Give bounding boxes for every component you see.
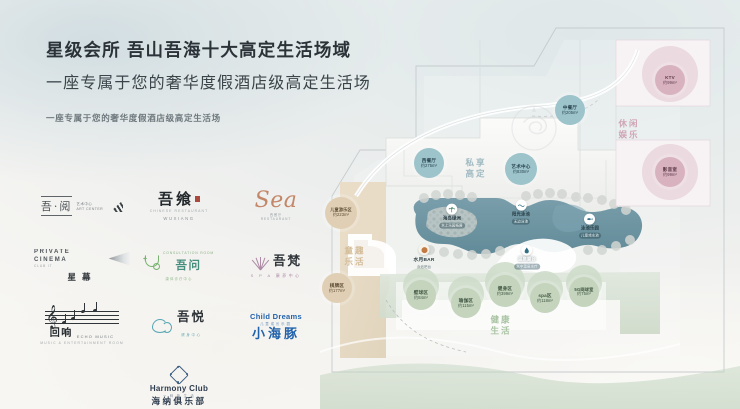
logo-wuwen[interactable]: + CONSULTATION ROOM 吾问 康体诊疗中心 [131, 238, 227, 294]
logo-wuwen-en2: 康体诊疗中心 [166, 276, 193, 281]
logo-private-cinema[interactable]: PRIVATE CINEMA CLUB IT 星幕 [34, 238, 130, 294]
zone-private-custom: 私享 高定 [465, 158, 486, 181]
marker-ocean-pool[interactable]: 泳池乐园 儿童戏水池 [579, 214, 601, 239]
logo-wuxiang-en: WUXIANG [163, 216, 194, 221]
pin-spa-area: 约118m² [537, 299, 553, 304]
pin-western-restaurant[interactable]: 西餐厅 约275m² [414, 148, 444, 178]
stethoscope-icon: + [144, 254, 160, 270]
zone-healthy-life-line1: 健康 [490, 315, 511, 326]
marker-ocean-pool-sub: 儿童戏水池 [579, 232, 601, 238]
logo-private-cinema-en2: CLUB IT [34, 264, 105, 268]
marker-sunshine-pool-sub: 无边泳池 [512, 218, 530, 224]
brush-stroke-icon [107, 200, 123, 212]
pin-yoga-area: 约115m² [458, 304, 474, 309]
pin-squash[interactable]: 壁球区 约84m² [406, 280, 436, 310]
marker-hot-spring-deck-name: 温泉露台 [518, 257, 536, 263]
pin-spa[interactable]: spa区 约118m² [530, 283, 560, 313]
logo-wuxiang-cn: 吾飨 [158, 192, 194, 207]
logo-child-dreams[interactable]: Child Dreams 儿童成长乐园 小海豚 [228, 298, 324, 354]
logo-harmony-club-cn: 海纳俱乐部 [151, 398, 206, 407]
logo-wuxiang[interactable]: 吾飨 CHINESE RESTAURANT WUXIANG [131, 178, 227, 234]
zone-healthy-life: 健康 生活 [490, 315, 511, 338]
logo-wuwen-cn: 吾问 [176, 258, 202, 272]
zone-leisure-fun-line1: 休闲 [618, 119, 639, 130]
marker-ocean-pool-name: 泳池乐园 [581, 226, 599, 232]
diamond-icon [170, 366, 188, 384]
pin-squash-area: 约84m² [414, 296, 428, 301]
brand-logo-grid: 吾·阅 艺术中心 ART CENTER 吾飨 CHINESE RESTAURAN… [34, 178, 324, 409]
music-staff-icon: 𝄞 [45, 307, 119, 329]
marker-hot-spring-deck[interactable]: 温泉露台 水中温泉水疗 [514, 245, 540, 270]
palm-icon [446, 204, 457, 215]
logo-wufan-en: S P A 康养中心 [251, 273, 302, 279]
pin-fitness-area: 约399m² [497, 292, 513, 297]
pin-art-center-area: 约830m² [513, 170, 529, 175]
page-title: 星级会所 吾山吾海十大高定生活场域 [46, 40, 371, 62]
logo-sea-en: RESTAURANT [261, 217, 291, 221]
wave-swirl-icon [152, 317, 174, 335]
page-caption: 一座专属于您的奢华度假酒店级高定生活场 [46, 112, 371, 124]
pin-chinese-restaurant[interactable]: 中餐厅 约205m² [555, 95, 585, 125]
logo-wuwen-en: CONSULTATION ROOM [163, 251, 214, 256]
zone-kids-joy-line1: 童趣 [344, 246, 365, 257]
pin-kids-play-area: 约223m² [333, 213, 349, 218]
marker-sea-wave-pool-sub: 水上乐园拓展 [439, 222, 465, 228]
logo-wufan-cn: 吾梵 [273, 255, 302, 268]
pin-yoga[interactable]: 瑜伽区 约115m² [451, 288, 481, 318]
zone-kids-joy: 童趣 乐活 [344, 246, 365, 269]
cocktail-icon [419, 244, 430, 255]
compass-watermark [506, 100, 562, 156]
marker-sea-wave-pool[interactable]: 海岛绿洲 水上乐园拓展 [439, 204, 465, 229]
logo-art-center[interactable]: 吾·阅 艺术中心 ART CENTER [34, 178, 130, 234]
droplet-icon [521, 245, 532, 256]
logo-wuyue[interactable]: 吾悦 健身中心 [131, 298, 227, 354]
logo-private-cinema-cn: 星幕 [67, 271, 96, 283]
lotus-icon [250, 254, 270, 270]
marker-sea-wave-pool-name: 海岛绿洲 [443, 216, 461, 222]
pin-tennis-5g[interactable]: 5G网球室 约75m² [569, 277, 599, 307]
marker-sunshine-pool-name: 阳光泳池 [512, 212, 530, 218]
marker-water-moon-bar[interactable]: 水月BAR 泳池吧台 [414, 244, 435, 270]
zone-leisure-fun: 休闲 娱乐 [618, 119, 639, 142]
logo-sea-word: Sea [255, 191, 298, 212]
logo-huixiang[interactable]: 𝄞 回响 ECHO MUSIC MUSIC & ENTERTAINMENT RO… [34, 298, 130, 354]
pin-chess-room-area: 约177m² [329, 289, 345, 294]
logo-huixiang-cn: 回响 [50, 329, 73, 339]
logo-child-dreams-en: Child Dreams [250, 312, 302, 321]
projector-beam-icon [109, 252, 130, 266]
page-subtitle: 一座专属于您的奢华度假酒店级高定生活场 [46, 69, 371, 93]
logo-private-cinema-en: PRIVATE CINEMA [34, 249, 105, 264]
pin-art-center[interactable]: 艺术中心 约830m² [505, 153, 537, 185]
logo-wuyue-cn: 吾悦 [177, 311, 206, 324]
marker-hot-spring-deck-sub: 水中温泉水疗 [514, 263, 540, 269]
logo-huixiang-en2: MUSIC & ENTERTAINMENT ROOM [40, 341, 124, 345]
logo-sea[interactable]: Sea 西餐厅 RESTAURANT [228, 178, 324, 234]
logo-harmony-club-en: Harmony Club [150, 384, 208, 393]
wave-icon [516, 200, 527, 211]
pin-tennis-5g-area: 约75m² [577, 292, 591, 297]
pin-av-room[interactable]: 影音室 约99m² [655, 157, 685, 187]
logo-art-center-en: ART CENTER [76, 207, 103, 211]
header-block: 星级会所 吾山吾海十大高定生活场域 一座专属于您的奢华度假酒店级高定生活场 一座… [46, 40, 371, 124]
zone-leisure-fun-line2: 娱乐 [618, 130, 639, 141]
zone-private-custom-line1: 私享 [465, 158, 486, 169]
logo-wuxiang-en2: CHINESE RESTAURANT [150, 209, 209, 213]
logo-harmony-club[interactable]: Harmony Club 一 种 新 生 活 海纳俱乐部 [131, 358, 227, 409]
pin-ktv-area: 约99m² [663, 81, 677, 86]
zone-private-custom-line2: 高定 [465, 169, 486, 180]
marker-water-moon-bar-name: 水月BAR [414, 256, 435, 263]
logo-child-dreams-cn: 小海豚 [252, 328, 300, 341]
fish-icon [584, 214, 595, 225]
pin-kids-play[interactable]: 儿童游乐区 约223m² [325, 197, 357, 229]
pin-fitness[interactable]: 健身区 约399m² [489, 275, 521, 307]
zone-healthy-life-line2: 生活 [490, 326, 511, 337]
slide-canvas: 星级会所 吾山吾海十大高定生活场域 一座专属于您的奢华度假酒店级高定生活场 一座… [0, 0, 740, 409]
logo-child-dreams-en2: 儿童成长乐园 [260, 321, 292, 326]
pin-chinese-restaurant-area: 约205m² [562, 111, 578, 116]
seal-icon [195, 196, 200, 202]
pin-av-room-area: 约99m² [663, 173, 677, 178]
marker-sunshine-pool[interactable]: 阳光泳池 无边泳池 [512, 200, 530, 225]
lawn-band [320, 364, 740, 409]
marker-water-moon-bar-sub: 泳池吧台 [415, 264, 433, 270]
pin-western-restaurant-area: 约275m² [421, 164, 437, 169]
logo-wufan[interactable]: 吾梵 S P A 康养中心 [228, 238, 324, 294]
pin-chess-room[interactable]: 棋牌区 约177m² [322, 273, 352, 303]
pin-ktv[interactable]: KTV 约99m² [655, 65, 685, 95]
logo-art-center-cn: 吾·阅 [41, 196, 73, 216]
logo-wuyue-en2: 健身中心 [181, 333, 202, 337]
zone-kids-joy-line2: 乐活 [344, 257, 365, 268]
logo-huixiang-en: ECHO MUSIC [77, 334, 115, 339]
